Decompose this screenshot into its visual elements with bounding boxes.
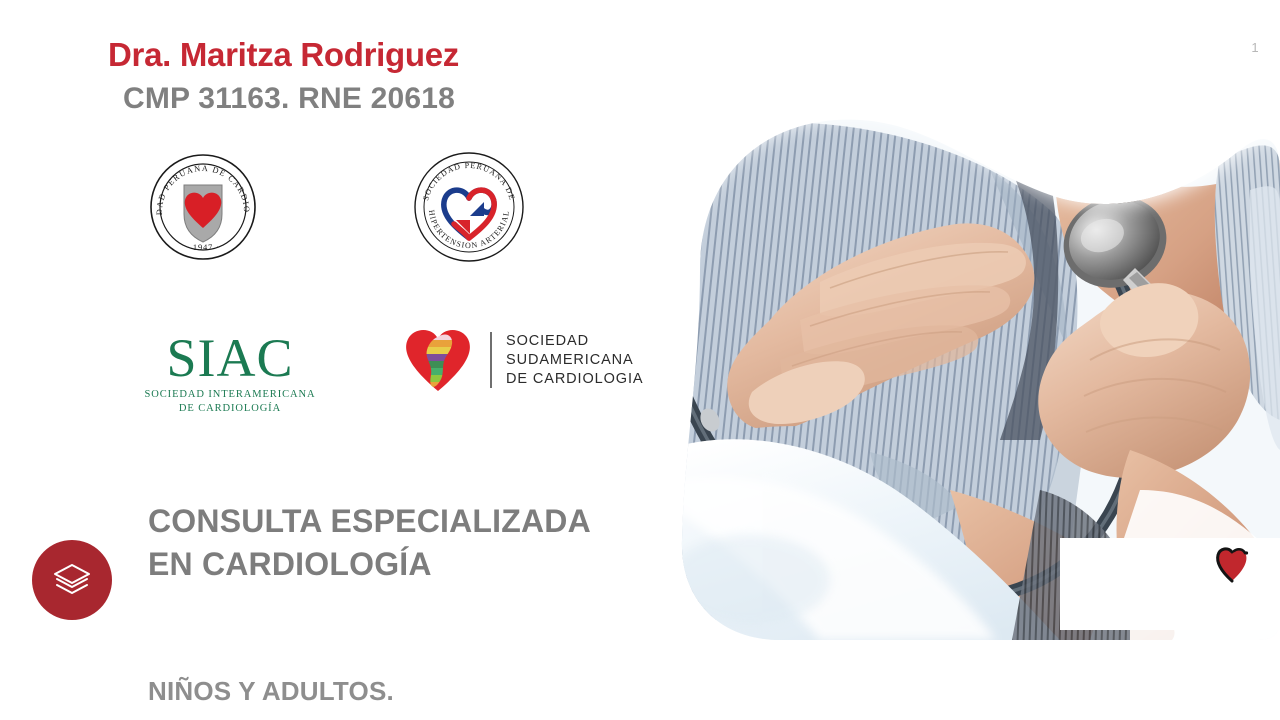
presentation-slide: 1 Dra. Maritza Rodriguez CMP 31163. RNE … (0, 0, 1280, 720)
siac-subtitle: SOCIEDAD INTERAMERICANA DE CARDIOLOGÍA (142, 388, 318, 416)
heart-stethoscope-icon (1212, 545, 1252, 587)
logo-sociedad-peruana-hipertension: SOCIEDAD PERUANA DE HIPERTENSION ARTERIA… (412, 150, 526, 264)
main-heading-line2: EN CARDIOLOGÍA (148, 543, 591, 586)
ssc-text-line1: SOCIEDAD (506, 332, 644, 351)
layers-badge[interactable] (32, 540, 112, 620)
logo-siac: SIAC SOCIEDAD INTERAMERICANA DE CARDIOLO… (142, 330, 318, 418)
logo-sociedad-peruana-cardiologia: SOCIEDAD PERUANA DE CARDIOLOGIA · 1947 · (148, 152, 258, 262)
ssc-divider (490, 332, 492, 388)
page-number: 1 (1240, 40, 1270, 55)
logo-sociedad-sudamericana-cardiologia: SOCIEDAD SUDAMERICANA DE CARDIOLOGIA (396, 320, 652, 400)
siac-subtitle-line2: DE CARDIOLOGÍA (142, 402, 318, 416)
ssc-heart-map-icon (396, 319, 480, 402)
ssc-text-line2: SUDAMERICANA (506, 351, 644, 370)
main-heading-line1: CONSULTA ESPECIALIZADA (148, 500, 591, 543)
audience-line: NIÑOS Y ADULTOS. (148, 676, 394, 707)
ssc-text: SOCIEDAD SUDAMERICANA DE CARDIOLOGIA (506, 332, 644, 389)
doctor-name: Dra. Maritza Rodriguez (108, 36, 459, 74)
layers-icon (52, 562, 92, 598)
siac-subtitle-line1: SOCIEDAD INTERAMERICANA (142, 388, 318, 402)
license-numbers: CMP 31163. RNE 20618 (123, 82, 455, 116)
main-heading: CONSULTA ESPECIALIZADA EN CARDIOLOGÍA (148, 500, 591, 586)
siac-wordmark: SIAC (142, 330, 318, 386)
logo-year: · 1947 · (186, 242, 219, 252)
ssc-text-line3: DE CARDIOLOGIA (506, 370, 644, 389)
